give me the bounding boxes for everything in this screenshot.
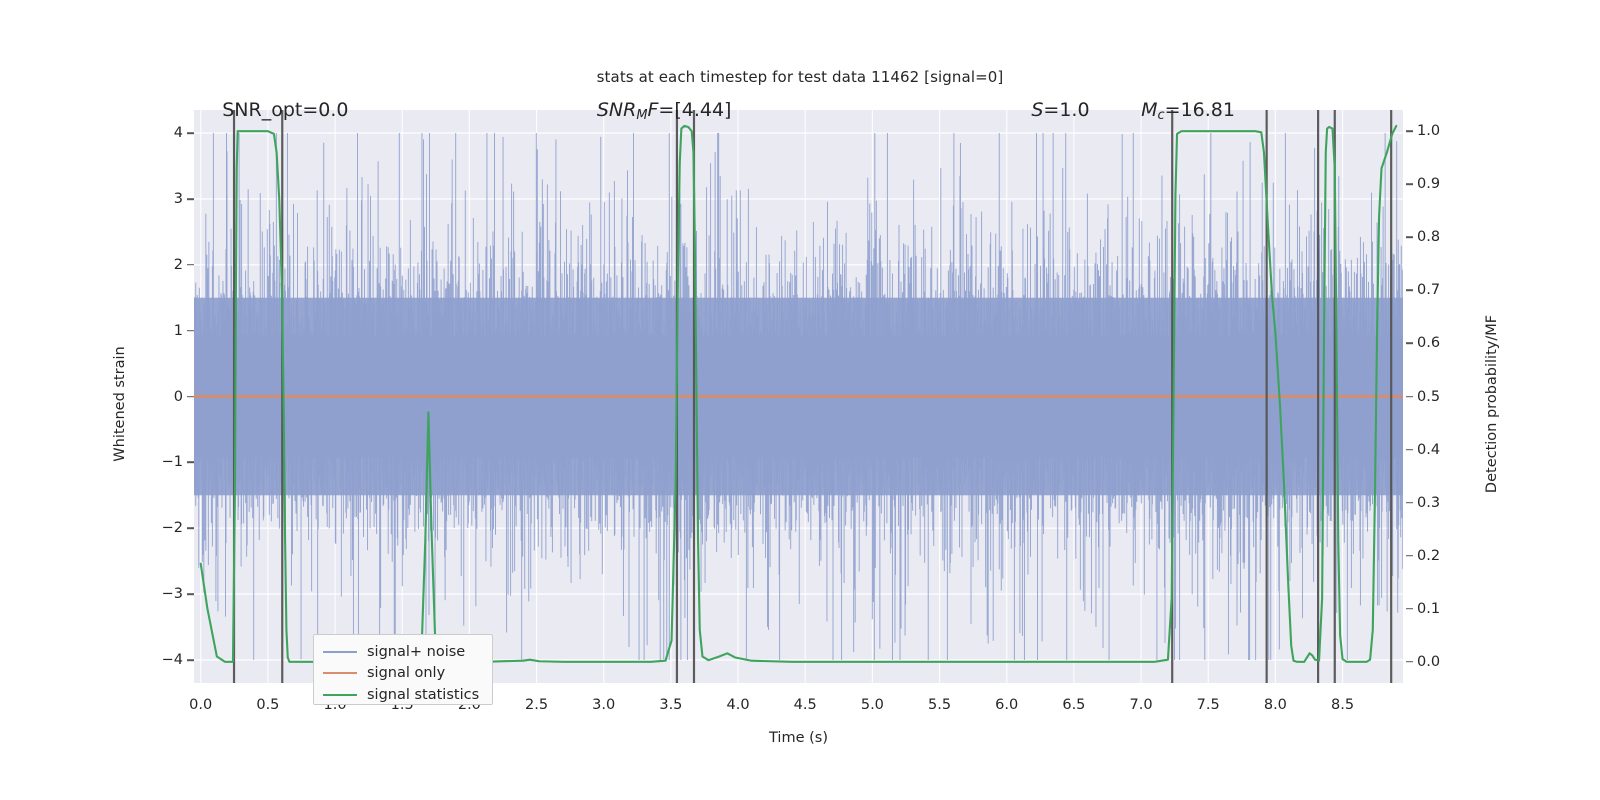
x-tick-8: 4.0 [708,697,768,713]
x-tick-0: 0.0 [171,697,231,713]
y-tick-left-2: 2 [123,257,183,273]
tick-mark [187,330,194,332]
y-tick-left-8: −4 [123,652,183,668]
y-tick-left-3: 1 [123,323,183,339]
tick-mark [1406,290,1413,292]
y-tick-left-1: 3 [123,191,183,207]
tick-mark [187,132,194,134]
x-axis-label: Time (s) [194,730,1403,746]
legend-label-signal-plus-noise: signal+ noise [367,645,465,660]
x-tick-12: 6.0 [977,697,1037,713]
legend-swatch-signal-statistics [323,694,357,696]
y-tick-right-0: 1.0 [1417,123,1487,139]
annotation-s-stat: S=1.0 [1031,99,1089,121]
tick-mark [187,264,194,266]
y-tick-left-4: 0 [123,389,183,405]
legend-item-signal-only[interactable]: signal only [323,663,483,685]
x-tick-15: 7.5 [1178,697,1238,713]
y-tick-right-3: 0.7 [1417,282,1487,298]
legend-label-signal-only: signal only [367,666,445,681]
tick-mark [1406,237,1413,239]
y-tick-right-8: 0.2 [1417,548,1487,564]
y-tick-right-7: 0.3 [1417,495,1487,511]
x-tick-6: 3.0 [574,697,634,713]
x-tick-9: 4.5 [775,697,835,713]
chart-title: stats at each timestep for test data 114… [0,68,1600,86]
plot-clip [194,110,1403,683]
y-tick-right-6: 0.4 [1417,442,1487,458]
y-tick-left-7: −3 [123,586,183,602]
plot-svg [194,110,1403,683]
tick-mark [1406,343,1413,345]
tick-mark [187,659,194,661]
x-tick-7: 3.5 [641,697,701,713]
tick-mark [1406,608,1413,610]
plot-area[interactable] [194,110,1403,683]
x-tick-14: 7.0 [1111,697,1171,713]
tick-mark [1406,183,1413,185]
legend-swatch-signal-plus-noise [323,651,357,653]
tick-mark [187,396,194,398]
x-tick-1: 0.5 [238,697,298,713]
y-tick-left-6: −2 [123,520,183,536]
y-tick-right-2: 0.8 [1417,229,1487,245]
y-tick-right-5: 0.5 [1417,389,1487,405]
tick-mark [1406,555,1413,557]
tick-mark [187,198,194,200]
annotation-mc: Mc=16.81 [1141,99,1235,123]
y-tick-right-10: 0.0 [1417,654,1487,670]
x-tick-13: 6.5 [1044,697,1104,713]
legend-item-signal-plus-noise[interactable]: signal+ noise [323,641,483,663]
x-tick-10: 5.0 [842,697,902,713]
y-tick-right-4: 0.6 [1417,335,1487,351]
tick-mark [1406,502,1413,504]
x-tick-17: 8.5 [1313,697,1373,713]
y-axis-right-label: Detection probability/MF [1484,264,1500,544]
y-axis-left-label: Whitened strain [112,274,128,534]
tick-mark [1406,396,1413,398]
tick-mark [187,462,194,464]
annotation-snr-opt: SNR_opt=0.0 [222,99,348,121]
tick-mark [187,527,194,529]
y-tick-left-5: −1 [123,454,183,470]
y-tick-left-0: 4 [123,125,183,141]
tick-mark [187,593,194,595]
legend-swatch-signal-only [323,672,357,674]
tick-mark [1406,661,1413,663]
legend[interactable]: signal+ noise signal only signal statist… [313,634,493,705]
x-tick-11: 5.5 [910,697,970,713]
legend-label-signal-statistics: signal statistics [367,688,479,703]
figure-canvas: stats at each timestep for test data 114… [0,0,1600,800]
y-tick-right-9: 0.1 [1417,601,1487,617]
legend-item-signal-statistics[interactable]: signal statistics [323,684,483,706]
tick-mark [1406,449,1413,451]
annotation-snr-mf: SNRMF=[4.44] [597,99,732,123]
y-tick-right-1: 0.9 [1417,176,1487,192]
x-tick-5: 2.5 [507,697,567,713]
x-tick-16: 8.0 [1245,697,1305,713]
tick-mark [1406,130,1413,132]
